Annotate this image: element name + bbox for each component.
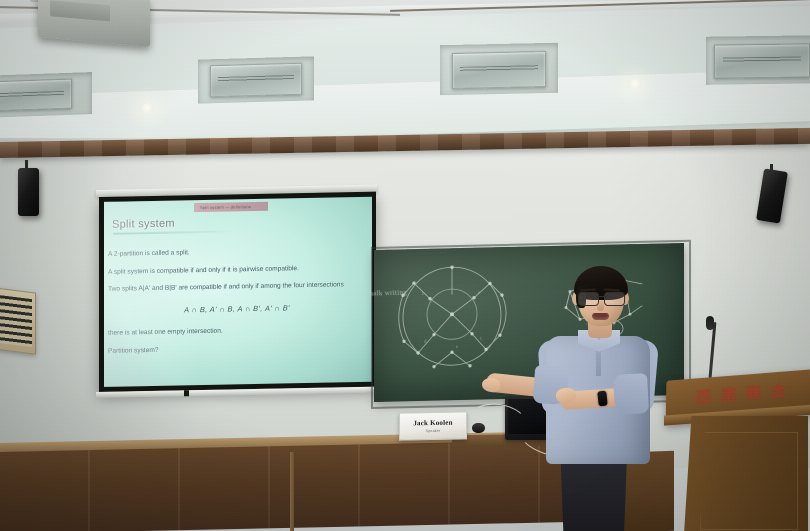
screen-glare [104,197,279,387]
lecture-hall-photo: Split system — definitions Split system … [0,0,810,531]
podium-char-2: 南 [721,383,738,405]
nameplate-name: Jack Koolen [400,418,466,427]
ceiling-ac-vent-mid [210,63,302,98]
podium-front-panel [700,432,798,530]
glasses-lens-right [604,292,625,306]
svg-text:e: e [456,345,459,350]
svg-text:d: d [424,340,427,345]
nameplate-subtitle: Speaker [400,428,466,433]
podium-char-1: 西 [696,385,713,407]
projection-screen: Split system — definitions Split system … [99,192,376,392]
podium-char-3: 联 [746,381,763,403]
slide-surface: Split system — definitions Split system … [104,197,372,387]
glasses-bridge [597,296,604,297]
wall-grille [0,287,36,354]
ceiling-ac-vent-far-right [714,43,810,78]
wall-wainscot-panel [0,439,598,531]
speaker-nameplate: Jack Koolen Speaker [399,411,467,440]
glasses-lens-left [578,292,599,306]
presenter-mouth [592,313,609,320]
blackboard-chalk-note: chalk writing [366,288,407,297]
ceiling-downlight-left [140,102,154,113]
ceiling-ac-vent-right [452,51,546,89]
wainscot-seam [290,452,294,531]
podium-char-4: 合 [771,379,788,401]
presenter-sleeve-right [613,373,649,415]
svg-text:b: b [422,292,425,297]
presenter-legs [556,455,630,531]
ceiling-ac-vent-left [0,79,72,112]
presenter-nose [597,300,604,311]
ceiling-downlight-right [628,78,642,89]
wall-speaker-left [18,168,39,216]
svg-text:c: c [480,337,483,342]
presenter-chin [586,320,616,328]
presenter-wristwatch [597,391,608,407]
